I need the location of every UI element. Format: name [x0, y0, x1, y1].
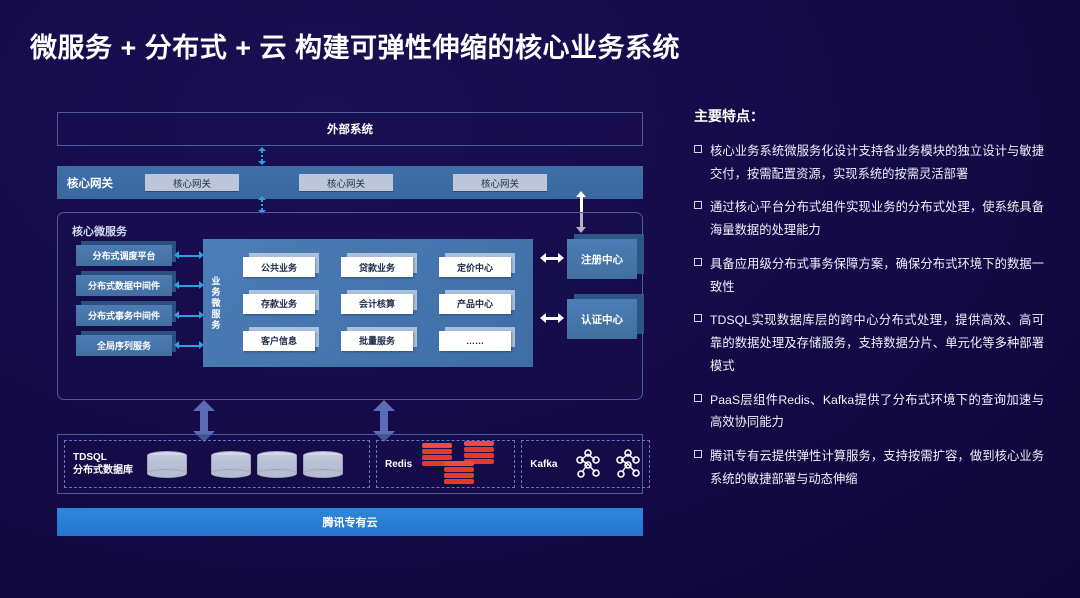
business-microservices-label: 业务微服务 [203, 239, 229, 367]
service-label: …… [439, 331, 511, 351]
service-label: 客户信息 [243, 331, 315, 351]
tencent-private-cloud-bar: 腾讯专有云 [57, 508, 643, 536]
square-bullet-icon [694, 314, 702, 322]
arrow-external-to-gateway [257, 147, 266, 165]
database-cylinder-icon [257, 451, 297, 478]
feature-item: TDSQL实现数据库层的跨中心分布式处理，提供高效、高可靠的数据处理及存储服务，… [694, 309, 1044, 377]
kafka-node-icon [615, 448, 641, 480]
redis-cell: Redis [376, 440, 515, 488]
square-bullet-icon [694, 145, 702, 153]
feature-text: PaaS层组件Redis、Kafka提供了分布式环境下的查询加速与高效协同能力 [710, 389, 1044, 434]
service-card[interactable]: 定价中心 [439, 257, 513, 277]
arrow-capability-to-business [174, 311, 204, 320]
core-gateway-title: 核心网关 [57, 175, 145, 191]
arrow-business-to-auth [540, 313, 564, 324]
database-cylinder-icon [303, 451, 343, 478]
external-systems-label: 外部系统 [327, 121, 373, 137]
feature-item: PaaS层组件Redis、Kafka提供了分布式环境下的查询加速与高效协同能力 [694, 389, 1044, 434]
arrow-capability-to-business [174, 281, 204, 290]
arrow-business-to-registry [540, 253, 564, 264]
feature-text: 通过核心平台分布式组件实现业务的分布式处理，使系统具备海量数据的处理能力 [710, 196, 1044, 241]
service-label: 贷款业务 [341, 257, 413, 277]
database-cylinder-icon [147, 451, 187, 478]
redis-label: Redis [385, 458, 412, 471]
kafka-label: Kafka [530, 458, 557, 471]
service-label: 公共业务 [243, 257, 315, 277]
core-microservices-panel: 核心微服务 分布式调度平台 分布式数据中间件 分布式事务中间件 全局序列服务 [57, 212, 643, 400]
capability-chip-data-middleware[interactable]: 分布式数据中间件 [76, 275, 176, 296]
capability-label: 全局序列服务 [76, 335, 172, 356]
tdsql-label: TDSQL 分布式数据库 [73, 451, 133, 477]
square-bullet-icon [694, 258, 702, 266]
square-bullet-icon [694, 201, 702, 209]
features-panel: 主要特点： 核心业务系统微服务化设计支持各业务模块的独立设计与敏捷交付，按需配置… [694, 106, 1044, 502]
tencent-private-cloud-label: 腾讯专有云 [323, 514, 378, 530]
gateway-chip[interactable]: 核心网关 [453, 174, 547, 191]
feature-item: 具备应用级分布式事务保障方案，确保分布式环境下的数据一致性 [694, 253, 1044, 298]
capability-chip-scheduling[interactable]: 分布式调度平台 [76, 245, 176, 266]
feature-text: 腾讯专有云提供弹性计算服务，支持按需扩容，做到核心业务系统的敏捷部署与动态伸缩 [710, 445, 1044, 490]
service-card[interactable]: 批量服务 [341, 331, 415, 351]
registry-center-box[interactable]: 注册中心 [567, 239, 641, 279]
feature-item: 核心业务系统微服务化设计支持各业务模块的独立设计与敏捷交付，按需配置资源，实现系… [694, 140, 1044, 185]
features-title: 主要特点： [694, 106, 1044, 126]
registry-center-label: 注册中心 [567, 239, 637, 279]
capability-label: 分布式调度平台 [76, 245, 172, 266]
service-label: 存款业务 [243, 294, 315, 314]
service-card[interactable]: 客户信息 [243, 331, 317, 351]
gateway-chip[interactable]: 核心网关 [299, 174, 393, 191]
architecture-diagram: 外部系统 核心网关 核心网关 核心网关 核心网关 核心微服务 [57, 112, 643, 536]
service-card[interactable]: 会计核算 [341, 294, 415, 314]
platform-capability-list: 分布式调度平台 分布式数据中间件 分布式事务中间件 全局序列服务 [76, 245, 176, 356]
service-label: 产品中心 [439, 294, 511, 314]
tdsql-cell: TDSQL 分布式数据库 [64, 440, 370, 488]
arrow-capability-to-business [174, 341, 204, 350]
feature-text: TDSQL实现数据库层的跨中心分布式处理，提供高效、高可靠的数据处理及存储服务，… [710, 309, 1044, 377]
service-card[interactable]: 存款业务 [243, 294, 317, 314]
kafka-cell: Kafka [521, 440, 650, 488]
core-microservices-title: 核心微服务 [72, 223, 127, 239]
infrastructure-row: TDSQL 分布式数据库 Redis [57, 434, 643, 494]
service-label: 会计核算 [341, 294, 413, 314]
capability-chip-global-sequence[interactable]: 全局序列服务 [76, 335, 176, 356]
business-microservices-block: 业务微服务 公共业务 贷款业务 定价中心 存款业务 会计核算 产品中心 客户信息… [203, 239, 533, 367]
capability-label: 分布式数据中间件 [76, 275, 172, 296]
slide-root: 微服务 + 分布式 + 云 构建可弹性伸缩的核心业务系统 外部系统 核心网关 核… [0, 0, 1080, 598]
database-cylinder-icon [211, 451, 251, 478]
capability-chip-transaction-middleware[interactable]: 分布式事务中间件 [76, 305, 176, 326]
feature-item: 通过核心平台分布式组件实现业务的分布式处理，使系统具备海量数据的处理能力 [694, 196, 1044, 241]
tdsql-node-group [147, 451, 343, 478]
capability-label: 分布式事务中间件 [76, 305, 172, 326]
page-title: 微服务 + 分布式 + 云 构建可弹性伸缩的核心业务系统 [30, 26, 680, 65]
auth-center-label: 认证中心 [567, 299, 637, 339]
square-bullet-icon [694, 394, 702, 402]
business-service-grid: 公共业务 贷款业务 定价中心 存款业务 会计核算 产品中心 客户信息 批量服务 … [229, 239, 533, 367]
redis-cube-icon [444, 461, 474, 485]
auth-center-box[interactable]: 认证中心 [567, 299, 641, 339]
feature-item: 腾讯专有云提供弹性计算服务，支持按需扩容，做到核心业务系统的敏捷部署与动态伸缩 [694, 445, 1044, 490]
gateway-chip[interactable]: 核心网关 [145, 174, 239, 191]
core-gateway-bar: 核心网关 核心网关 核心网关 核心网关 [57, 166, 643, 199]
service-label: 定价中心 [439, 257, 511, 277]
arrow-capability-to-business [174, 251, 204, 260]
square-bullet-icon [694, 450, 702, 458]
redis-node-group [420, 441, 506, 487]
feature-text: 具备应用级分布式事务保障方案，确保分布式环境下的数据一致性 [710, 253, 1044, 298]
service-card[interactable]: …… [439, 331, 513, 351]
kafka-node-icon [575, 448, 601, 480]
kafka-node-group [575, 448, 641, 480]
external-systems-box: 外部系统 [57, 112, 643, 146]
service-label: 批量服务 [341, 331, 413, 351]
gateway-chip-list: 核心网关 核心网关 核心网关 [145, 174, 643, 191]
service-card[interactable]: 贷款业务 [341, 257, 415, 277]
service-card[interactable]: 产品中心 [439, 294, 513, 314]
feature-text: 核心业务系统微服务化设计支持各业务模块的独立设计与敏捷交付，按需配置资源，实现系… [710, 140, 1044, 185]
service-card[interactable]: 公共业务 [243, 257, 317, 277]
